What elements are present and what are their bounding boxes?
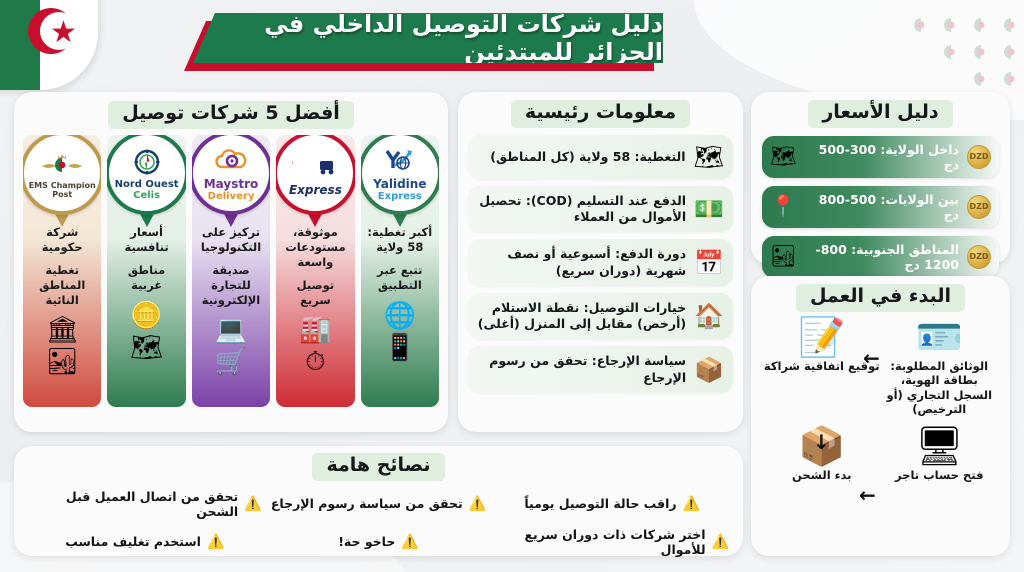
zr-truck-icon: ZR [292, 149, 338, 183]
company-feature-1: أسعار تنافسية [107, 225, 185, 255]
page-title-text: دليل شركات التوصيل الداخلي في الجزائر لل… [193, 10, 663, 66]
id-card-icon: 🪪 [916, 318, 963, 356]
company-logo-line2: Celis [133, 190, 160, 201]
government-building-icon: 🏛 [46, 317, 79, 343]
company-logo-line2: Post [52, 190, 72, 199]
company-pin: Yalidine Express [361, 135, 439, 227]
tip-item: ⚠️ اختر شركات ذات دوران سريع للأموال [495, 527, 729, 557]
company-logo-line1: Nord Ouest [115, 179, 179, 190]
companies-panel-title: أفضل 5 شركات توصيل [108, 101, 354, 129]
price-row: DZD بين الولايات: 500-800 دج 📍 [762, 186, 999, 228]
companies-columns: Yalidine Express أكبر تغطية: 58 ولاية تت… [14, 135, 448, 407]
tip-text: تحقق من سياسة رسوم الإرجاع [271, 496, 463, 511]
company-pin: ZR Express [276, 135, 354, 227]
flow-arrow-down-icon: ↓ [813, 430, 830, 454]
tip-text: راقب حالة التوصيل يومياً [524, 496, 676, 511]
keyinfo-row: 🗺 التغطية: 58 ولاية (كل المناطق) [468, 135, 733, 179]
tip-item: ⚠️ حاخو حة! [262, 527, 496, 557]
prices-panel-title: دليل الأسعار [808, 100, 952, 128]
stopwatch-icon: ⏱ [305, 349, 325, 375]
keyinfo-row: 💵 الدفع عند التسليم (COD): تحصيل الأموال… [468, 186, 733, 233]
company-feature-2: توصيل سريع [276, 278, 354, 308]
company-card-maystro[interactable]: Maystro Delivery تركيز على التكنولوجيا ص… [192, 135, 270, 407]
price-row-text: بين الولايات: 500-800 دج [804, 192, 959, 222]
company-logo-line2: Delivery [208, 191, 255, 202]
keyinfo-row: 📅 دورة الدفع: أسبوعية أو نصف شهرية (دورا… [468, 239, 733, 286]
company-logo-line2: Express [378, 191, 422, 202]
company-logo-line1: EMS Champion [29, 181, 96, 190]
keyinfo-row-text: الدفع عند التسليم (COD): تحصيل الأموال م… [477, 193, 686, 226]
flow-arrow-left-icon: ← [859, 483, 876, 507]
desert-landscape-icon: 🏜 [46, 349, 79, 375]
keyinfo-row: 🏠 خيارات التوصيل: نقطة الاستلام (أرخص) م… [468, 293, 733, 340]
tips-grid: ⚠️ راقب حالة التوصيل يومياً ⚠️ تحقق من س… [14, 489, 743, 557]
warning-icon: ⚠️ [712, 535, 729, 549]
shopping-cart-icon: 🛒 [215, 349, 247, 375]
keyinfo-row-text: دورة الدفع: أسبوعية أو نصف شهرية (دوران … [477, 246, 686, 279]
price-row: DZD داخل الولاية: 300-500 دج 🗺 [762, 136, 999, 178]
panel-top-companies: أفضل 5 شركات توصيل Yalidine Express أكبر… [14, 92, 448, 432]
company-logo-line1: Yalidine [373, 177, 426, 191]
page-title: دليل شركات التوصيل الداخلي في الجزائر لل… [193, 13, 663, 65]
panel-getting-started: البدء في العمل 🪪 الوثائق المطلوبة: بطاقة… [751, 276, 1010, 556]
company-pin: Maystro Delivery [192, 135, 270, 227]
desert-icon: 🏜 [770, 246, 797, 267]
company-card-nord-ouest-celis[interactable]: Nord Ouest Celis أسعار تنافسية مناطق غرب… [107, 135, 185, 407]
compass-icon [133, 145, 161, 179]
return-box-icon: 📦 [694, 358, 724, 382]
watermark-flag-icon [974, 18, 988, 32]
calendar-icon: 📅 [694, 251, 724, 275]
company-feature-1: موثوقة، مستودعات واسعة [276, 225, 354, 270]
watermark-flag-icon [1004, 72, 1018, 86]
ems-crown-wings-icon [40, 147, 84, 181]
start-flow: 🪪 الوثائق المطلوبة: بطاقة الهوية، السجل … [751, 318, 1010, 536]
price-row-text: داخل الولاية: 300-500 دج [805, 142, 959, 172]
company-logo-line1: Maystro [204, 177, 259, 191]
tip-text: اختر شركات ذات دوران سريع للأموال [495, 527, 705, 557]
company-logo-line2: Express [289, 183, 342, 197]
algeria-map-icon: 🗺 [694, 145, 724, 169]
flow-step-merchant-account: 🖥 فتح حساب تاجر [881, 427, 999, 536]
flow-arrow-right-icon: ← [863, 346, 880, 370]
watermark-flag-icon [944, 18, 958, 32]
keyinfo-row-text: سياسة الإرجاع: تحقق من رسوم الإرجاع [477, 353, 686, 386]
company-feature-2: تتبع عبر التطبيق [361, 263, 439, 293]
warning-icon: ⚠️ [207, 535, 224, 549]
keyinfo-row-text: التغطية: 58 ولاية (كل المناطق) [477, 149, 686, 165]
flow-step-label: بدء الشحن [792, 468, 851, 482]
flow-step-id-card: 🪪 الوثائق المطلوبة: بطاقة الهوية، السجل … [881, 318, 999, 427]
panel-key-information: معلومات رئيسية 🗺 التغطية: 58 ولاية (كل ا… [458, 92, 743, 432]
tip-text: حاخو حة! [338, 534, 395, 549]
tip-text: استخدم تغليف مناسب [65, 534, 201, 549]
company-feature-1: شركة حكومية [23, 225, 101, 255]
price-row: DZD المناطق الجنوبية: 800-1200 دج 🏜 [762, 236, 999, 278]
company-pin: Nord Ouest Celis [107, 135, 185, 227]
map-pin-region-icon: 🗺 [770, 146, 797, 167]
coin-icon: DZD [967, 195, 991, 219]
watermark-flag-icon [974, 72, 988, 86]
watermark-flag-icon [914, 18, 928, 32]
contract-pen-icon: 📝 [798, 318, 845, 356]
company-pin: EMS Champion Post [23, 135, 101, 227]
yalidine-arrow-globe-icon [383, 143, 417, 177]
company-feature-1: أكبر تغطية: 58 ولاية [361, 225, 439, 255]
watermark-flag-icon [974, 45, 988, 59]
warning-icon: ⚠️ [469, 497, 486, 511]
price-row-text: المناطق الجنوبية: 800-1200 دج [805, 242, 959, 272]
company-feature-2: تغطية المناطق النائية [23, 263, 101, 308]
infographic-root: ★ دليل شركات التوصيل الداخلي في الجزائر … [0, 0, 1024, 572]
panel-price-guide: دليل الأسعار DZD داخل الولاية: 300-500 د… [751, 92, 1010, 264]
warehouse-icon: 🏭 [299, 317, 331, 343]
cloud-gear-icon [213, 143, 249, 177]
algeria-flag-icon: ★ [0, 0, 98, 90]
svg-text:ZR: ZR [292, 157, 294, 177]
map-route-icon: 📍 [770, 196, 796, 217]
merchant-monitor-icon: 🖥 [915, 427, 963, 465]
company-card-zr-express[interactable]: ZR Express موثوقة، مستودعات واسعة توصيل … [276, 135, 354, 407]
home-delivery-icon: 🏠 [694, 304, 724, 328]
tip-text: تحقق من اتصال العميل قبل الشحن [28, 489, 238, 519]
tip-item: ⚠️ استخدم تغليف مناسب [28, 527, 262, 557]
algeria-map-icon: 🗺 [130, 335, 163, 361]
keyinfo-row: 📦 سياسة الإرجاع: تحقق من رسوم الإرجاع [468, 346, 733, 393]
tip-item: ⚠️ تحقق من سياسة رسوم الإرجاع [262, 489, 496, 519]
warning-icon: ⚠️ [244, 497, 261, 511]
warning-icon: ⚠️ [683, 497, 700, 511]
warning-icon: ⚠️ [401, 535, 418, 549]
tip-item: ⚠️ راقب حالة التوصيل يومياً [495, 489, 729, 519]
company-card-ems-champion-post[interactable]: EMS Champion Post شركة حكومية تغطية المن… [23, 135, 101, 407]
watermark-flag-icon [1004, 18, 1018, 32]
coins-dollar-icon: 🪙 [130, 303, 162, 329]
tip-item: ⚠️ تحقق من اتصال العميل قبل الشحن [28, 489, 262, 519]
tips-panel-title: نصائح هامة [312, 453, 444, 481]
flow-step-label: فتح حساب تاجر [895, 468, 983, 482]
company-feature-2: مناطق غربية [107, 263, 185, 293]
coin-icon: DZD [967, 145, 991, 169]
start-panel-title: البدء في العمل [796, 284, 965, 312]
cash-in-hand-icon: 💵 [694, 197, 724, 221]
flow-step-label: الوثائق المطلوبة: بطاقة الهوية، السجل ال… [881, 359, 999, 417]
coin-icon: DZD [967, 245, 991, 269]
laptop-cart-icon: 💻 [215, 317, 247, 343]
company-feature-1: تركيز على التكنولوجيا [192, 225, 270, 255]
mobile-tracking-icon: 📱 [384, 335, 416, 361]
company-card-yalidine[interactable]: Yalidine Express أكبر تغطية: 58 ولاية تت… [361, 135, 439, 407]
panel-important-tips: نصائح هامة ⚠️ راقب حالة التوصيل يومياً ⚠… [14, 446, 743, 556]
watermark-flag-icon [1004, 45, 1018, 59]
watermark-flag-icon [944, 45, 958, 59]
flow-step-contract: 📝 توقيع اتفاقية شراكة [763, 318, 881, 427]
keyinfo-panel-title: معلومات رئيسية [511, 100, 690, 128]
globe-phone-icon: 🌐 [384, 303, 416, 329]
company-feature-2: صديقة للتجارة الإلكترونية [192, 263, 270, 308]
keyinfo-row-text: خيارات التوصيل: نقطة الاستلام (أرخص) مقا… [477, 300, 686, 333]
